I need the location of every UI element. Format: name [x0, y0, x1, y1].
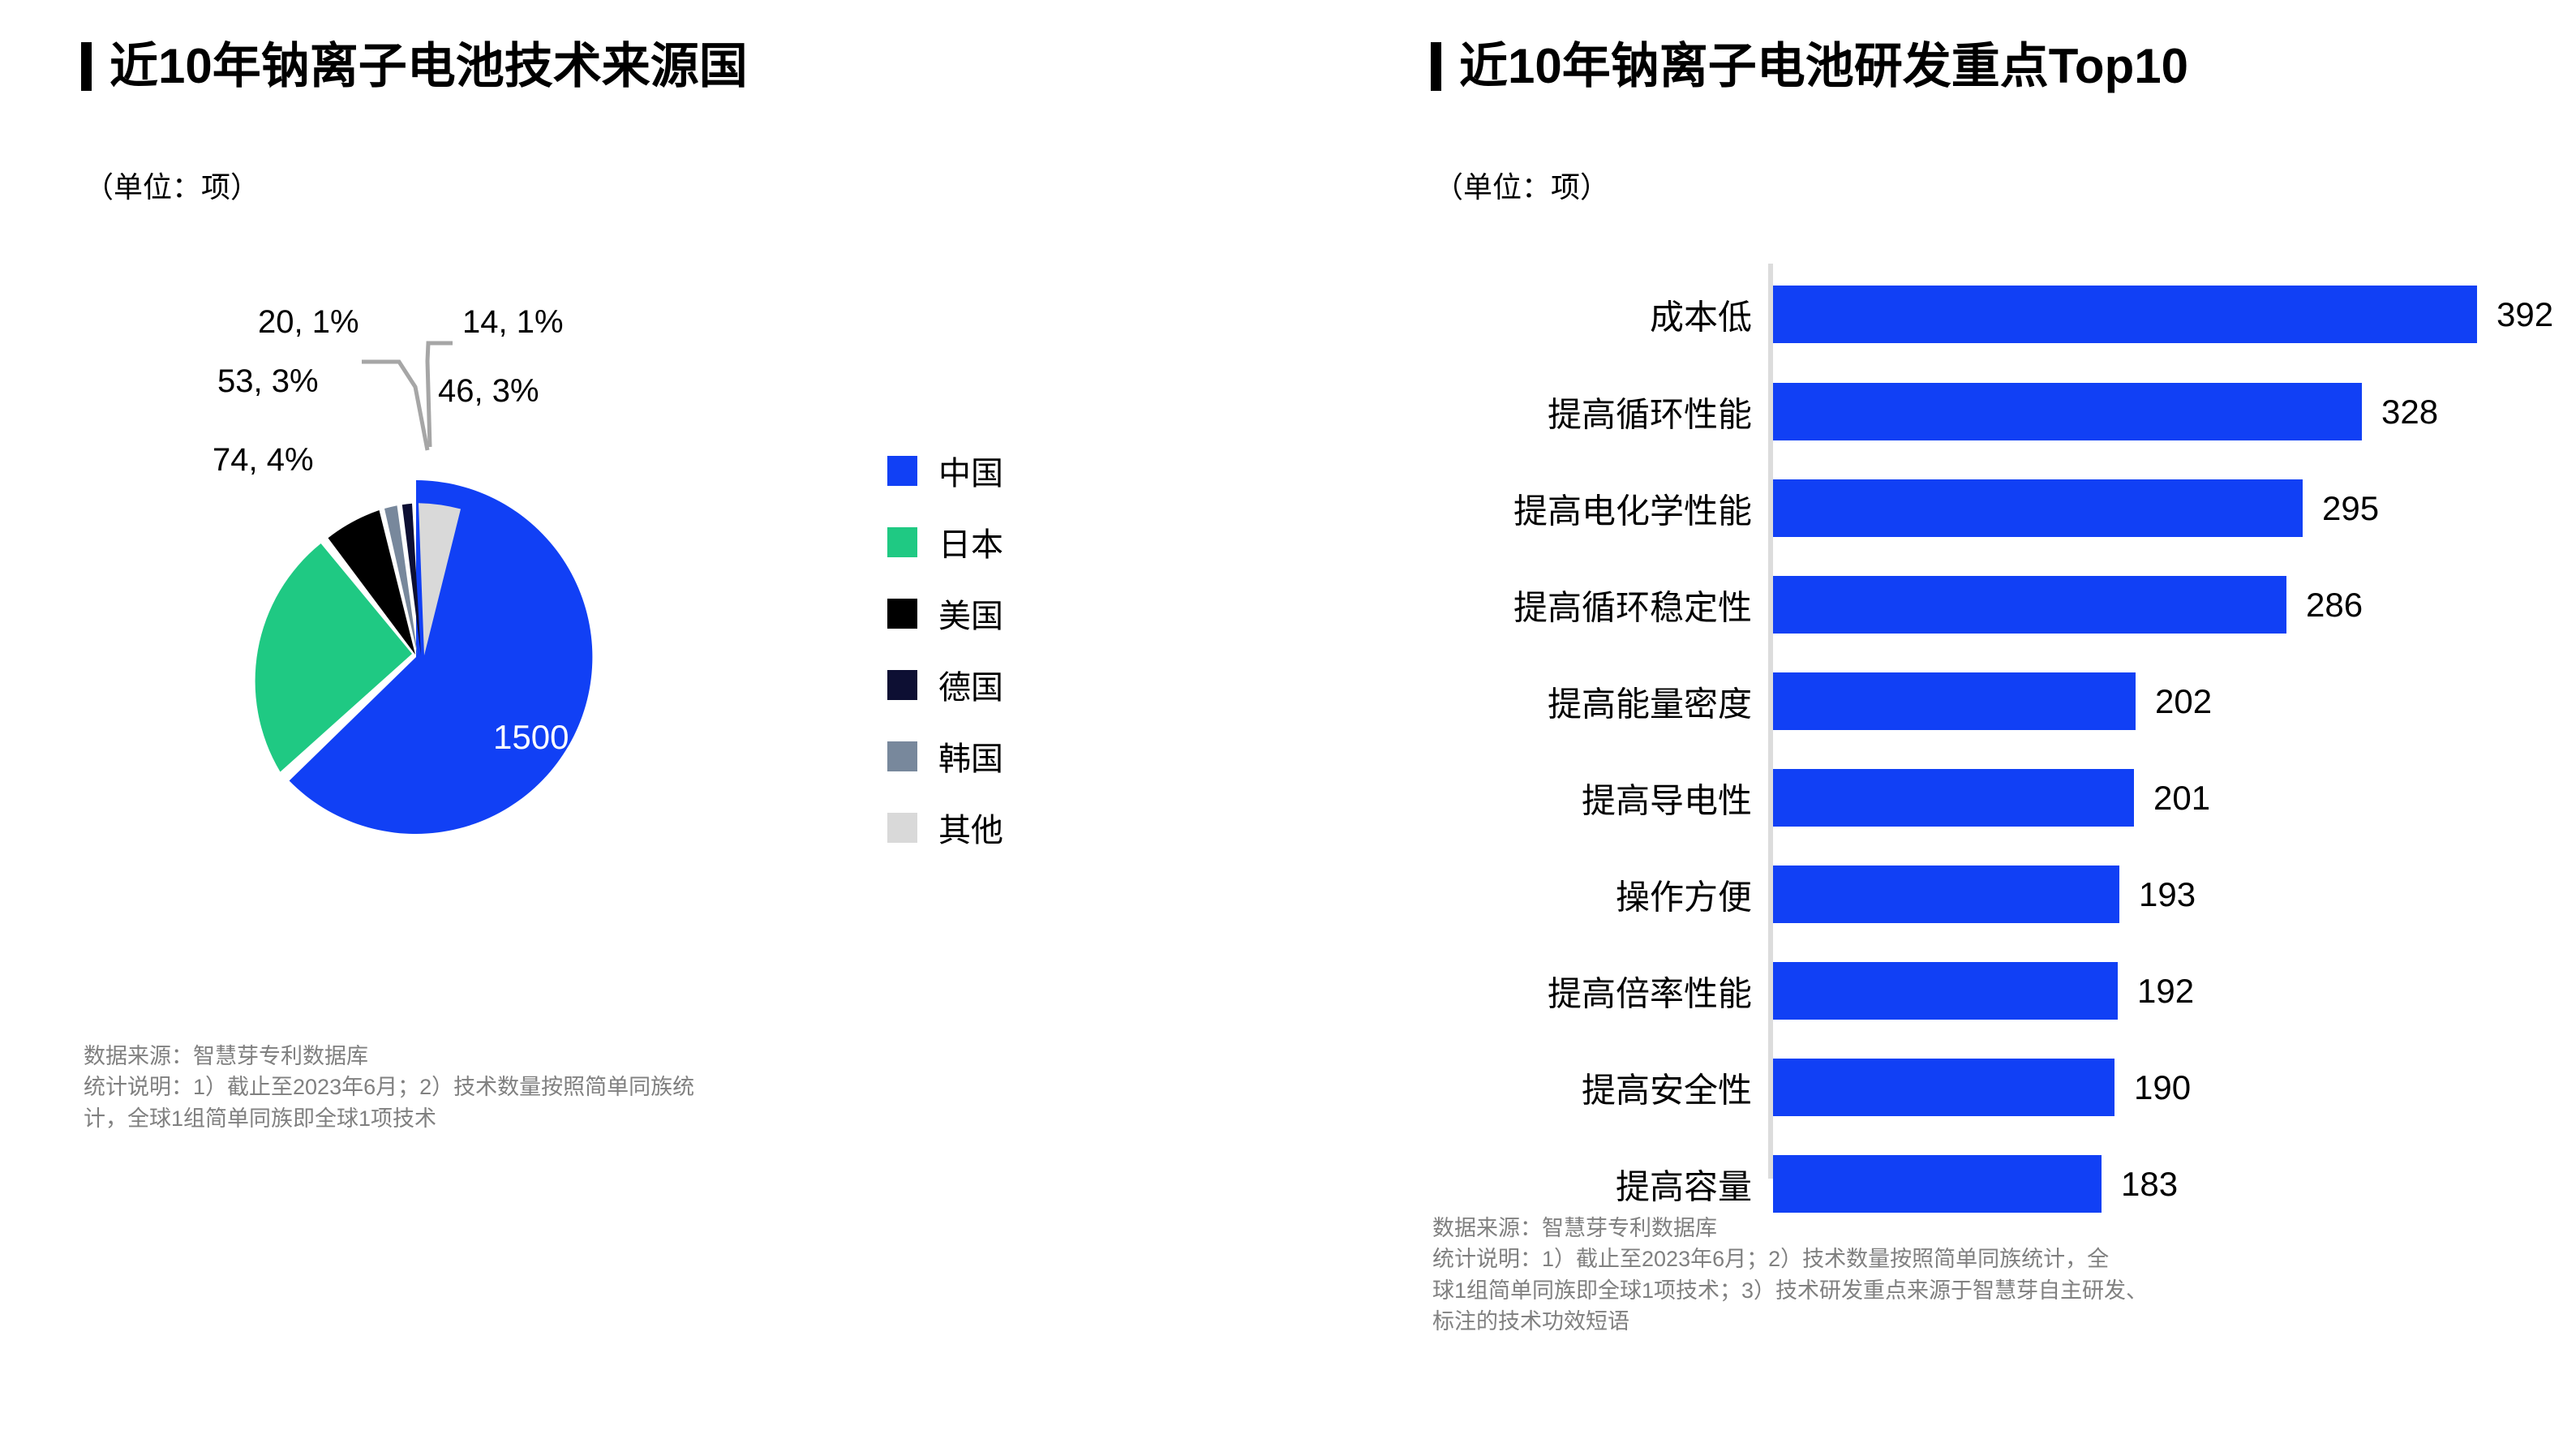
bar-category-label: 成本低 — [1650, 290, 1752, 339]
bar-rect[interactable] — [1773, 286, 2477, 343]
bar-row[interactable]: 成本低 392 — [1288, 286, 2576, 343]
legend-item-germany[interactable]: 德国 — [887, 667, 1003, 702]
legend-item-japan[interactable]: 日本 — [887, 524, 1003, 560]
bar-rect[interactable] — [1773, 962, 2118, 1020]
left-chart-title: 近10年钠离子电池技术来源国 — [81, 42, 748, 91]
bar-category-label: 提高循环性能 — [1548, 387, 1752, 436]
legend-swatch-icon-japan — [887, 527, 917, 557]
bar-row[interactable]: 提高电化学性能 295 — [1288, 479, 2576, 537]
left-footnote: 数据来源：智慧芽专利数据库 统计说明：1）截止至2023年6月；2）技术数量按照… — [84, 1041, 1089, 1134]
pie-label-korea: 14, 1% — [462, 304, 564, 341]
bar-row[interactable]: 提高导电性 201 — [1288, 769, 2576, 827]
pie-label-others: 46, 3% — [438, 373, 539, 410]
legend-swatch-icon-germany — [887, 670, 917, 700]
legend-label-germany: 德国 — [938, 661, 1003, 708]
legend-swatch-icon-others — [887, 813, 917, 843]
bar-category-label: 提高电化学性能 — [1513, 483, 1752, 533]
bar-rect[interactable] — [1773, 672, 2136, 730]
bar-value-label: 201 — [2153, 779, 2210, 818]
bar-rect[interactable] — [1773, 1155, 2102, 1213]
bar-rect[interactable] — [1773, 769, 2134, 827]
bar-rect[interactable] — [1773, 1059, 2114, 1116]
pie-svg — [0, 0, 1288, 1439]
leader-line-20 — [362, 362, 427, 450]
bar-rect[interactable] — [1773, 479, 2303, 537]
bar-row[interactable]: 提高循环性能 328 — [1288, 383, 2576, 440]
legend-item-usa[interactable]: 美国 — [887, 595, 1003, 631]
legend-label-japan: 日本 — [938, 518, 1003, 565]
bar-value-label: 286 — [2306, 586, 2363, 625]
legend-swatch-icon-usa — [887, 599, 917, 629]
bar-category-label: 提高导电性 — [1582, 773, 1752, 823]
bar-value-label: 192 — [2137, 972, 2194, 1011]
bar-row[interactable]: 提高倍率性能 192 — [1288, 962, 2576, 1020]
bar-row[interactable]: 提高安全性 190 — [1288, 1059, 2576, 1116]
bar-category-label: 提高倍率性能 — [1548, 966, 1752, 1016]
bar-value-label: 295 — [2322, 489, 2379, 528]
bar-category-label: 提高容量 — [1616, 1159, 1752, 1209]
pie-label-usa: 53, 3% — [217, 363, 319, 400]
legend-item-others[interactable]: 其他 — [887, 810, 1003, 845]
bar-value-label: 183 — [2121, 1165, 2178, 1204]
bar-row[interactable]: 提高能量密度 202 — [1288, 672, 2576, 730]
legend-item-china[interactable]: 中国 — [887, 453, 1003, 488]
bar-category-label: 提高安全性 — [1582, 1063, 1752, 1112]
bar-plot-area: 成本低 392 提高循环性能 328 提高电化学性能 295 提高循环稳定性 2… — [1288, 0, 2576, 1439]
pie-label-japan: 74, 4% — [213, 442, 314, 479]
legend-label-others: 其他 — [938, 804, 1003, 851]
pie-legend: 中国 日本 美国 德国 韩国 其他 — [887, 453, 1003, 845]
pie-graphic: 20, 1% 14, 1% 53, 3% 46, 3% 74, 4% 1500,… — [0, 0, 1288, 1439]
bar-value-label: 392 — [2497, 295, 2553, 334]
left-chart-subtitle: （单位：项） — [84, 164, 260, 206]
pie-label-germany: 20, 1% — [258, 304, 359, 341]
legend-label-usa: 美国 — [938, 590, 1003, 637]
bar-rect[interactable] — [1773, 383, 2362, 440]
legend-item-korea[interactable]: 韩国 — [887, 738, 1003, 774]
pie-slice-germany — [402, 504, 421, 655]
bar-row[interactable]: 提高容量 183 — [1288, 1155, 2576, 1213]
bar-value-label: 328 — [2381, 393, 2438, 432]
pie-slice-japan — [255, 543, 412, 772]
legend-label-china: 中国 — [938, 447, 1003, 494]
bar-row[interactable]: 提高循环稳定性 286 — [1288, 576, 2576, 634]
leader-line-14 — [427, 343, 453, 447]
bar-category-label: 提高循环稳定性 — [1513, 580, 1752, 629]
bar-value-label: 202 — [2155, 682, 2212, 721]
pie-slice-china — [290, 480, 593, 834]
pie-label-china: 1500, 88% — [493, 718, 656, 757]
bar-rect[interactable] — [1773, 576, 2286, 634]
bar-category-label: 操作方便 — [1616, 870, 1752, 919]
pie-slice-usa — [328, 510, 416, 655]
bar-category-label: 提高能量密度 — [1548, 677, 1752, 726]
legend-swatch-icon-china — [887, 456, 917, 486]
pie-chart-panel: 近10年钠离子电池技术来源国 （单位：项） 20, 1% 14, 1% 53, … — [0, 0, 1288, 1439]
bar-rect[interactable] — [1773, 866, 2119, 923]
bar-row[interactable]: 操作方便 193 — [1288, 866, 2576, 923]
pie-slice-korea — [384, 505, 418, 655]
legend-swatch-icon-korea — [887, 741, 917, 771]
title-accent-bar — [81, 42, 92, 91]
bar-value-label: 193 — [2139, 875, 2196, 914]
left-title-text: 近10年钠离子电池技术来源国 — [109, 42, 748, 91]
pie-slice-others — [419, 503, 461, 655]
bar-value-label: 190 — [2134, 1068, 2191, 1107]
legend-label-korea: 韩国 — [938, 732, 1003, 780]
